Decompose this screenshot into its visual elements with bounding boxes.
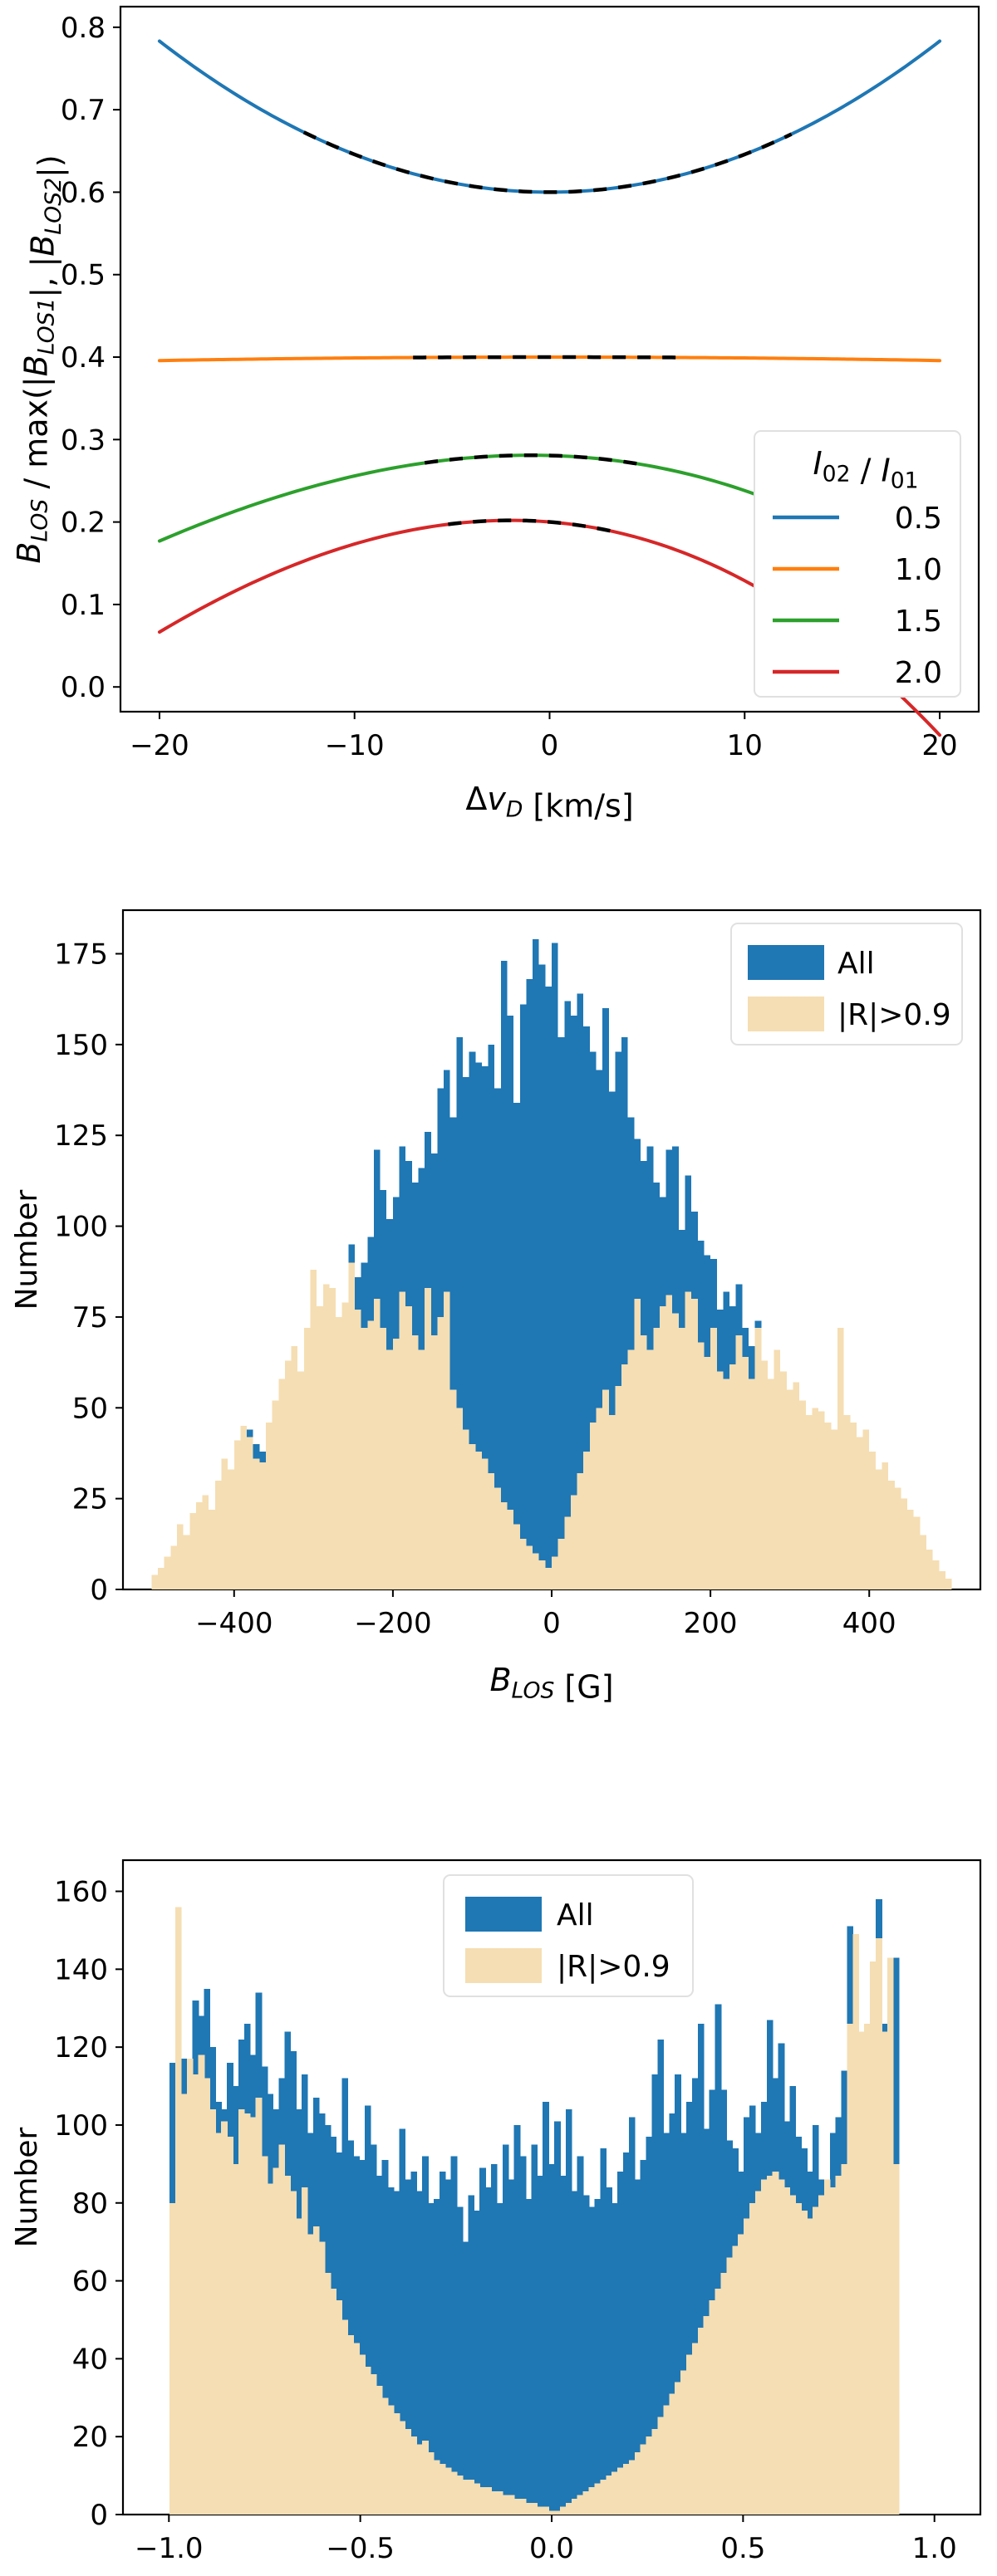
hist-bar — [434, 2460, 440, 2515]
hist-bar — [342, 1302, 349, 1589]
hist-bar — [158, 1568, 165, 1589]
hist-bar — [869, 1452, 876, 1589]
legend-label-2.0: 2.0 — [895, 656, 942, 690]
y-tick-label: 0 — [90, 2499, 108, 2532]
hist-bar — [589, 2206, 596, 2515]
hist-bar — [503, 2144, 509, 2515]
y-axis-label: Number — [10, 2127, 44, 2247]
hist-bar — [609, 1415, 616, 1589]
hist-bar — [600, 2480, 607, 2515]
hist-bar — [393, 1339, 400, 1589]
hist-bar — [170, 1546, 177, 1589]
hist-bar — [679, 1328, 685, 1589]
hist-bar — [789, 2195, 796, 2515]
hist-bar — [545, 987, 552, 1589]
hist-bar — [692, 2343, 699, 2515]
y-tick-label: 60 — [72, 2265, 108, 2299]
hist-bar — [381, 1328, 387, 1589]
y-tick-label: 0.0 — [61, 671, 106, 704]
hist-bar — [416, 2445, 423, 2515]
hist-bar — [623, 2152, 630, 2515]
hist-bar — [552, 943, 558, 1589]
hist-bar — [184, 1535, 190, 1589]
y-tick-label: 50 — [72, 1392, 108, 1425]
hist-bar — [780, 1372, 787, 1589]
hist-bar — [641, 2445, 647, 2515]
x-tick-label: −200 — [354, 1607, 431, 1640]
hist-bar — [628, 1349, 635, 1589]
hist-bar — [773, 2172, 779, 2515]
hist-bar — [882, 1462, 889, 1589]
y-tick-label: 120 — [54, 2031, 108, 2064]
y-tick-label: 0.3 — [61, 424, 106, 457]
hist-bar — [485, 2487, 492, 2515]
hist-bar — [548, 2164, 555, 2515]
hist-bar — [698, 2328, 705, 2515]
hist-bar — [858, 2031, 865, 2515]
hist-bar — [365, 2367, 371, 2515]
hist-bar — [394, 2413, 400, 2515]
hist-bar — [253, 1459, 260, 1589]
x-tick-label: 1.0 — [912, 2532, 957, 2565]
hist-bar — [666, 1295, 673, 1589]
hist-bar — [830, 2187, 837, 2515]
hist-bar — [445, 2468, 452, 2515]
x-tick-label: 0 — [543, 1607, 561, 1640]
hist-bar — [199, 2055, 205, 2515]
hist-bar — [425, 1288, 431, 1589]
hist-bar — [704, 2316, 710, 2515]
hist-bar — [675, 2383, 681, 2515]
hist-bar — [577, 2156, 584, 2515]
hist-bar — [445, 2180, 452, 2515]
hist-bar — [825, 1423, 832, 1589]
y-tick-label: 0.7 — [61, 94, 106, 127]
blos-histogram-svg: 0255075100125150175−400−2000200400Number… — [0, 859, 997, 1717]
hist-bar — [577, 1473, 584, 1589]
hist-bar — [657, 2417, 664, 2515]
hist-bar — [818, 1412, 825, 1589]
hist-bar — [767, 2176, 774, 2515]
hist-bar — [729, 1364, 736, 1589]
hist-bar — [594, 2483, 601, 2515]
hist-bar — [489, 1473, 495, 1589]
hist-bar — [508, 2495, 515, 2515]
hist-bar — [440, 2464, 446, 2515]
hist-bar — [653, 1328, 660, 1589]
hist-bar — [209, 2109, 216, 2515]
hist-bar — [273, 1401, 279, 1589]
x-tick-label: −1.0 — [135, 2532, 204, 2565]
hist-bar — [920, 1535, 926, 1589]
hist-bar — [590, 1423, 597, 1589]
hist-bar — [399, 2421, 405, 2515]
hist-bar — [646, 2436, 653, 2515]
y-tick-label: 150 — [54, 1029, 108, 1062]
hist-bar — [474, 2211, 480, 2515]
hist-bar — [597, 1408, 603, 1589]
hist-bar — [491, 2164, 498, 2515]
hist-bar — [444, 1291, 450, 1589]
hist-bar — [311, 1270, 317, 1589]
hist-bar — [348, 1262, 355, 1589]
hist-bar — [376, 2386, 383, 2515]
x-tick-label: 0.5 — [720, 2532, 765, 2565]
hist-bar — [405, 2429, 411, 2515]
hist-bar — [583, 2491, 590, 2515]
hist-bar — [663, 2406, 670, 2515]
hist-bar — [761, 2180, 768, 2515]
hist-bar — [285, 1360, 292, 1589]
hist-bar — [564, 1517, 571, 1589]
hist-bar — [571, 1495, 577, 1589]
y-axis-label: Number — [10, 1189, 44, 1310]
hist-bar — [353, 2343, 360, 2515]
legend-swatch-0 — [748, 945, 824, 980]
hist-bar — [813, 2206, 819, 2515]
hist-bar — [548, 2510, 555, 2515]
hist-bar — [513, 1524, 520, 1589]
x-axis-label: BLOS [G] — [489, 1662, 613, 1705]
hist-bar — [422, 2441, 429, 2515]
hist-bar — [799, 1401, 806, 1589]
hist-bar — [545, 1568, 552, 1589]
hist-bar — [583, 1452, 590, 1589]
hist-bar — [710, 1328, 717, 1589]
hist-bar — [795, 2203, 802, 2515]
hist-bar — [526, 1546, 533, 1589]
hist-bar — [450, 1389, 457, 1589]
hist-bar — [606, 2187, 612, 2515]
hist-bar — [497, 2203, 503, 2515]
panel-blos-normalized-histogram: 020406080100120140160−1.0−0.50.00.51.0Nu… — [0, 1717, 997, 2576]
y-tick-label: 0.1 — [61, 589, 106, 622]
hist-bar — [914, 1517, 921, 1589]
hist-bar — [440, 2172, 446, 2515]
legend-label-1: |R|>0.9 — [557, 1950, 670, 1984]
hist-bar — [554, 2121, 561, 2515]
hist-bar — [850, 1423, 857, 1589]
x-tick-label: −0.5 — [326, 2532, 395, 2565]
hist-bar — [778, 2180, 785, 2515]
hist-bar — [262, 2156, 268, 2515]
hist-bar — [244, 2113, 251, 2515]
y-tick-label: 100 — [54, 2109, 108, 2143]
hist-bar — [462, 2242, 469, 2515]
hist-bar — [507, 1016, 513, 1589]
hist-bar — [749, 1379, 755, 1589]
hist-bar — [600, 2148, 607, 2515]
hist-bar — [539, 965, 546, 1589]
y-tick-label: 0.5 — [61, 259, 106, 292]
x-tick-label: 400 — [842, 1607, 896, 1640]
y-tick-label: 140 — [54, 1953, 108, 1986]
hist-bar — [196, 1502, 203, 1589]
hist-bar — [704, 1357, 710, 1589]
hist-bar — [560, 2176, 567, 2515]
hist-bar — [801, 2211, 808, 2515]
hist-bar — [726, 2257, 733, 2515]
x-axis-label: ΔvD [km/s] — [465, 781, 633, 824]
hist-bar — [893, 2164, 900, 2515]
hist-bar — [268, 2183, 274, 2515]
hist-bar — [457, 2206, 464, 2515]
hist-bar — [256, 2098, 263, 2515]
hist-bar — [755, 1328, 762, 1589]
hist-bar — [787, 1389, 793, 1589]
hist-bar — [888, 1481, 895, 1589]
hist-bar — [187, 2059, 194, 2515]
hist-bar — [457, 2476, 464, 2515]
hist-bar — [857, 1437, 863, 1589]
hist-bar — [615, 1386, 621, 1589]
hist-bar — [945, 1579, 952, 1589]
y-tick-label: 0 — [90, 1574, 108, 1607]
hist-bar — [374, 1299, 381, 1589]
hist-bar — [691, 1299, 698, 1589]
hist-bar — [723, 1379, 729, 1589]
hist-bar — [870, 1961, 877, 2515]
hist-bar — [537, 2176, 543, 2515]
hist-bar — [177, 1524, 184, 1589]
hist-bar — [323, 1285, 330, 1589]
hist-bar — [307, 2234, 314, 2515]
hist-bar — [297, 1372, 304, 1589]
hist-bar — [761, 1360, 768, 1589]
hist-bar — [710, 2300, 716, 2515]
hist-bar — [901, 1499, 907, 1589]
hist-bar — [479, 2168, 486, 2515]
hist-bar — [533, 1553, 539, 1589]
hist-bar — [617, 2468, 624, 2515]
hist-bar — [844, 1415, 851, 1589]
hist-bar — [847, 2024, 854, 2515]
hist-bar — [680, 2370, 687, 2515]
hist-bar — [501, 961, 508, 1589]
hist-bar — [558, 1037, 565, 1589]
hist-bar — [876, 1470, 882, 1589]
hist-bar — [494, 1488, 501, 1589]
hist-bar — [355, 1310, 361, 1589]
hist-bar — [744, 2219, 750, 2515]
hist-bar — [292, 1346, 298, 1589]
hist-bar — [895, 1488, 901, 1589]
hist-bar — [831, 1430, 837, 1589]
hist-bar — [686, 2355, 693, 2515]
x-tick-label: 0.0 — [529, 2532, 574, 2565]
hist-bar — [259, 1462, 266, 1589]
hist-bar — [240, 1426, 247, 1589]
hist-bar — [175, 1907, 182, 2515]
hist-bar — [749, 2203, 756, 2515]
hist-bar — [388, 2406, 395, 2515]
hist-bar — [864, 2024, 871, 2515]
hist-bar — [341, 2319, 348, 2515]
hist-bar — [181, 2094, 188, 2515]
hist-bar — [193, 2074, 199, 2515]
hist-bar — [634, 1299, 641, 1589]
hist-bar — [742, 1357, 749, 1589]
hist-bar — [497, 2491, 503, 2515]
hist-bar — [543, 2102, 549, 2515]
hist-bar — [367, 1320, 374, 1589]
hist-bar — [558, 1539, 565, 1589]
hist-bar — [347, 2335, 354, 2515]
hist-bar — [698, 1343, 705, 1589]
hist-bar — [774, 1349, 781, 1589]
hist-bar — [418, 1349, 425, 1589]
x-tick-label: −20 — [130, 729, 189, 762]
hist-bar — [583, 2195, 590, 2515]
legend-label-1: |R|>0.9 — [837, 998, 951, 1032]
hist-bar — [468, 2480, 474, 2515]
hist-bar — [451, 2156, 458, 2515]
figure-root: 0.00.10.20.30.40.50.60.70.8−20−1001020Δv… — [0, 0, 997, 2576]
hist-bar — [386, 1349, 393, 1589]
y-tick-label: 25 — [72, 1483, 108, 1516]
hist-bar — [329, 1288, 336, 1589]
hist-bar — [907, 1510, 914, 1589]
y-tick-label: 20 — [72, 2421, 108, 2454]
hist-bar — [837, 1328, 844, 1589]
hist-bar — [514, 2499, 521, 2515]
hist-bar — [247, 1437, 253, 1589]
x-tick-label: −400 — [195, 1607, 273, 1640]
hist-bar — [336, 1317, 342, 1589]
hist-bar — [410, 2436, 417, 2515]
hist-bar — [514, 2125, 521, 2515]
hist-bar — [807, 2219, 813, 2515]
hist-bar — [577, 2495, 584, 2515]
hist-bar — [317, 1306, 323, 1589]
hist-bar — [641, 1335, 647, 1589]
legend-label-0.5: 0.5 — [895, 502, 942, 536]
hist-bar — [672, 1314, 679, 1589]
hist-bar — [652, 2429, 659, 2515]
hist-bar — [479, 2487, 486, 2515]
hist-bar — [273, 2168, 279, 2515]
hist-bar — [468, 2195, 474, 2515]
hist-bar — [278, 1379, 285, 1589]
hist-bar — [456, 1408, 463, 1589]
hist-bar — [531, 2144, 538, 2515]
y-tick-label: 40 — [72, 2343, 108, 2376]
legend-label-1.0: 1.0 — [895, 553, 942, 587]
y-tick-label: 75 — [72, 1301, 108, 1335]
hist-bar — [623, 2464, 630, 2515]
y-tick-label: 0.6 — [61, 176, 106, 209]
hist-bar — [755, 2192, 762, 2515]
y-tick-label: 80 — [72, 2187, 108, 2221]
hist-bar — [151, 1575, 158, 1590]
hist-bar — [203, 1495, 209, 1589]
hist-bar — [852, 1934, 859, 2515]
hist-bar — [482, 1459, 489, 1589]
hist-bar — [412, 1335, 419, 1589]
hist-bar — [617, 2172, 624, 2515]
hist-bar — [876, 1938, 882, 2515]
hist-bar — [284, 2176, 291, 2515]
hist-bar — [606, 2476, 612, 2515]
hist-bar — [720, 2273, 727, 2515]
hist-bar — [475, 1452, 482, 1589]
hist-bar — [227, 2137, 233, 2515]
hist-bar — [560, 2507, 567, 2515]
hist-bar — [221, 1459, 228, 1589]
legend-swatch-1 — [748, 997, 824, 1031]
hist-bar — [812, 1408, 818, 1589]
hist-bar — [451, 2471, 458, 2515]
hist-bar — [738, 2234, 744, 2515]
x-tick-label: 10 — [727, 729, 763, 762]
hist-bar — [513, 1103, 520, 1589]
hist-bar — [602, 1389, 609, 1589]
hist-bar — [717, 1372, 724, 1589]
hist-bar — [215, 2133, 222, 2515]
hist-bar — [647, 1349, 654, 1589]
hist-bar — [485, 2187, 492, 2515]
hist-bar — [508, 2180, 515, 2515]
hist-bar — [566, 2109, 572, 2515]
hist-bar — [685, 1291, 692, 1589]
hist-bar — [278, 2144, 285, 2515]
hist-bar — [302, 2187, 308, 2515]
legend-label-1.5: 1.5 — [895, 605, 942, 639]
hist-bar — [371, 2374, 377, 2515]
hist-bar — [629, 2118, 636, 2515]
hist-bar — [715, 2289, 722, 2515]
hist-bar — [537, 2507, 543, 2515]
hist-bar — [783, 2187, 790, 2515]
hist-bar — [204, 2079, 211, 2515]
hist-bar — [736, 1335, 743, 1589]
hist-bar — [228, 1470, 234, 1589]
hist-bar — [564, 1001, 571, 1589]
x-tick-label: 0 — [541, 729, 559, 762]
hist-bar — [215, 1481, 222, 1589]
hist-bar — [793, 1383, 799, 1589]
hist-bar — [189, 1513, 196, 1589]
y-tick-label: 160 — [54, 1876, 108, 1909]
hist-bar — [359, 2355, 366, 2515]
legend-label-0: All — [837, 947, 875, 981]
hist-bar — [533, 939, 539, 1589]
hist-bar — [887, 1957, 894, 2515]
hist-bar — [290, 2192, 297, 2515]
hist-bar — [296, 2219, 302, 2515]
hist-bar — [611, 2471, 618, 2515]
hist-bar — [543, 2507, 549, 2515]
hist-bar — [621, 1364, 628, 1589]
hist-bar — [933, 1560, 940, 1589]
panel-line-chart: 0.00.10.20.30.40.50.60.70.8−20−1001020Δv… — [0, 0, 997, 859]
hist-bar — [526, 979, 533, 1589]
y-tick-label: 0.2 — [61, 507, 106, 540]
hist-bar — [501, 1502, 508, 1589]
hist-bar — [221, 2121, 228, 2515]
hist-bar — [304, 1328, 311, 1589]
legend-swatch-1 — [465, 1948, 542, 1983]
hist-bar — [572, 2192, 578, 2515]
hist-bar — [635, 2452, 641, 2515]
hist-bar — [552, 1557, 558, 1589]
hist-bar — [400, 1291, 406, 1589]
legend-swatch-0 — [465, 1897, 542, 1932]
panel-blos-histogram: 0255075100125150175−400−2000200400Number… — [0, 859, 997, 1717]
legend-label-0: All — [557, 1898, 594, 1932]
hist-bar — [669, 2394, 675, 2515]
hist-bar — [319, 2242, 326, 2515]
